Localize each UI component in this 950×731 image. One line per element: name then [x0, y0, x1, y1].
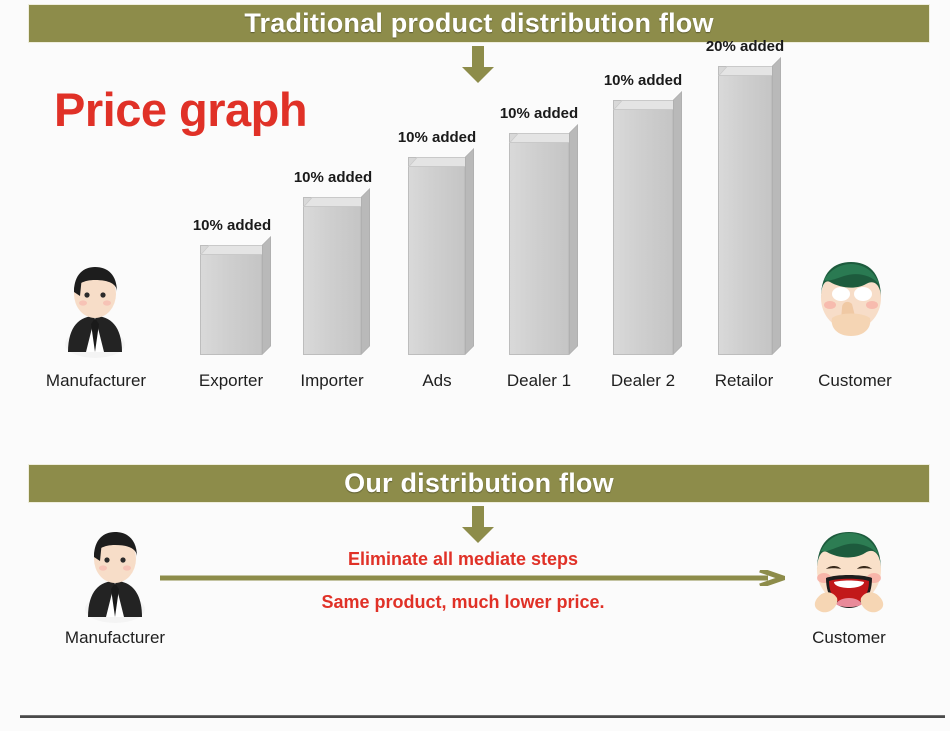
bar-top-face	[509, 133, 578, 143]
axis-label-exporter: Exporter	[176, 371, 286, 391]
bar-front-face	[718, 66, 772, 355]
our-flow-header: Our distribution flow	[28, 464, 930, 503]
bar-front-face	[613, 100, 673, 355]
bar-annotation-dealer-1: 10% added	[494, 105, 584, 122]
bar-retailor	[718, 66, 772, 355]
bar-top-face	[613, 100, 682, 110]
bar-top-face	[303, 197, 370, 207]
flow-message-secondary: Same product, much lower price.	[253, 592, 673, 613]
bar-annotation-retailor: 20% added	[700, 38, 790, 55]
bar-top-face	[200, 245, 271, 255]
happy-customer-avatar-icon	[806, 528, 892, 628]
bar-front-face	[509, 133, 569, 355]
bar-dealer-2	[613, 100, 673, 355]
infographic-canvas: Traditional product distribution flow Pr…	[0, 0, 950, 731]
bar-side-face	[569, 124, 578, 355]
bar-side-face	[262, 236, 271, 355]
bar-annotation-ads: 10% added	[392, 129, 482, 146]
bar-annotation-dealer-2: 10% added	[598, 72, 688, 89]
flow-message-primary: Eliminate all mediate steps	[253, 549, 673, 570]
bar-side-face	[465, 148, 474, 355]
bar-ads	[408, 157, 465, 355]
bottom-divider	[20, 715, 945, 718]
bar-annotation-importer: 10% added	[288, 169, 378, 186]
flow-caption-customer: Customer	[790, 628, 908, 648]
axis-label-dealer-2: Dealer 2	[589, 371, 697, 391]
happy-customer-avatar-icon	[810, 258, 892, 358]
axis-label-retailor: Retailor	[693, 371, 795, 391]
businessman-avatar-icon	[82, 527, 148, 623]
axis-label-customer: Customer	[796, 371, 914, 391]
axis-label-dealer-1: Dealer 1	[485, 371, 593, 391]
right-arrow-icon	[160, 570, 785, 586]
bar-side-face	[772, 57, 781, 355]
bar-annotation-exporter: 10% added	[187, 217, 277, 234]
our-flow-header-title: Our distribution flow	[344, 468, 614, 499]
bar-dealer-1	[509, 133, 569, 355]
bar-side-face	[673, 91, 682, 355]
bar-front-face	[200, 245, 262, 355]
businessman-avatar-icon	[62, 262, 128, 358]
bar-front-face	[408, 157, 465, 355]
bar-front-face	[303, 197, 361, 355]
down-arrow-icon	[461, 506, 495, 544]
flow-caption-manufacturer: Manufacturer	[55, 628, 175, 648]
bar-importer	[303, 197, 361, 355]
axis-label-ads: Ads	[386, 371, 488, 391]
price-bar-chart: Manufacturer 10% added Exporter 10% adde…	[0, 0, 950, 400]
axis-label-manufacturer: Manufacturer	[32, 371, 160, 391]
bar-exporter	[200, 245, 262, 355]
bar-side-face	[361, 188, 370, 355]
axis-label-importer: Importer	[277, 371, 387, 391]
